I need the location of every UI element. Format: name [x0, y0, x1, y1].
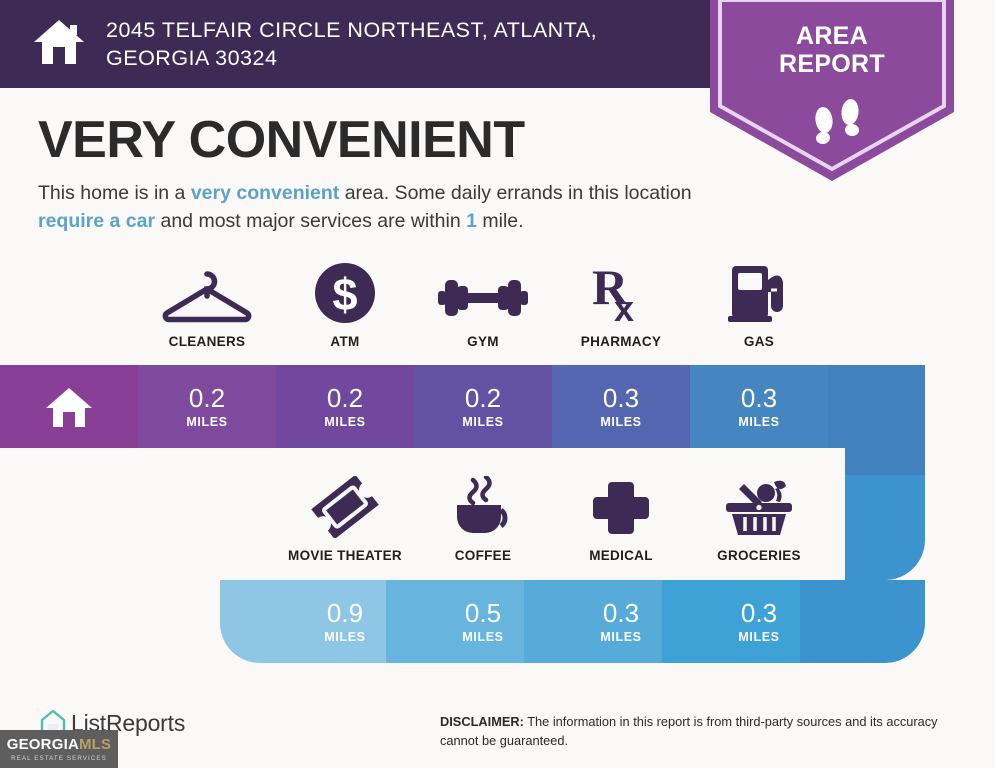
amenity-label: CLEANERS [169, 334, 246, 349]
home-icon [32, 17, 86, 72]
hanger-icon [161, 262, 253, 324]
bar-segment-gym [414, 365, 552, 448]
bar-segment-movie-theater [386, 580, 524, 665]
page-description: This home is in a very convenient area. … [38, 180, 703, 235]
watermark-mls: MLS [79, 736, 111, 753]
watermark-georgia: GEORGIA [7, 736, 79, 753]
ribbon-right-connector [845, 365, 935, 585]
amenity-icon-row-1: CLEANERS $ ATM [0, 262, 995, 349]
bar-segment-home [0, 365, 138, 448]
bar-segment-gas [690, 365, 828, 448]
watermark-title: GEORGIAMLS [7, 737, 112, 752]
distance-bar-row-1 [0, 365, 938, 448]
distance-ribbon [0, 365, 995, 665]
property-address: 2045 TELFAIR CIRCLE NORTHEAST, ATLANTA, … [106, 16, 706, 73]
desc-text-1: This home is in a [38, 182, 191, 204]
rx-icon: R x [588, 262, 654, 324]
header-bar: 2045 TELFAIR CIRCLE NORTHEAST, ATLANTA, … [0, 0, 720, 88]
amenity-gym: GYM [414, 262, 552, 349]
dollar-circle-icon: $ [314, 262, 376, 324]
bar-segment-groceries [800, 580, 938, 665]
bar-segment-coffee [524, 580, 662, 665]
amenity-gas: GAS [690, 262, 828, 349]
amenity-cleaners: CLEANERS [138, 262, 276, 349]
amenity-pharmacy: R x PHARMACY [552, 262, 690, 349]
dumbbell-icon [438, 262, 528, 324]
distance-bar-row-2 [220, 580, 938, 665]
desc-text-2: area. Some daily errands in this locatio… [339, 182, 691, 204]
desc-highlight-2: require a car [38, 210, 155, 232]
bar-segment-corner-bottom [220, 580, 386, 665]
svg-text:x: x [614, 288, 634, 324]
georgia-mls-watermark: GEORGIAMLS REAL ESTATE SERVICES [0, 730, 118, 768]
amenity-label: ATM [330, 334, 359, 349]
disclaimer: DISCLAIMER: The information in this repo… [440, 713, 960, 750]
area-report-badge: AREA REPORT [710, 0, 954, 181]
amenity-label: GAS [744, 334, 774, 349]
bar-segment-atm [276, 365, 414, 448]
desc-text-3: and most major services are within [155, 210, 466, 232]
desc-highlight-3: 1 [466, 210, 477, 232]
gas-pump-icon [728, 262, 790, 324]
svg-text:$: $ [332, 269, 357, 320]
amenity-label: GYM [467, 334, 499, 349]
amenity-label: PHARMACY [581, 334, 661, 349]
area-report-page: 2045 TELFAIR CIRCLE NORTHEAST, ATLANTA, … [0, 0, 995, 768]
amenity-atm: $ ATM [276, 262, 414, 349]
bar-segment-pharmacy [552, 365, 690, 448]
disclaimer-label: DISCLAIMER: [440, 714, 524, 729]
desc-text-4: mile. [477, 210, 524, 232]
watermark-subtitle: REAL ESTATE SERVICES [11, 755, 107, 762]
desc-highlight-1: very convenient [191, 182, 339, 204]
bar-segment-medical [662, 580, 800, 665]
bar-segment-cleaners [138, 365, 276, 448]
page-title: VERY CONVENIENT [38, 110, 525, 170]
